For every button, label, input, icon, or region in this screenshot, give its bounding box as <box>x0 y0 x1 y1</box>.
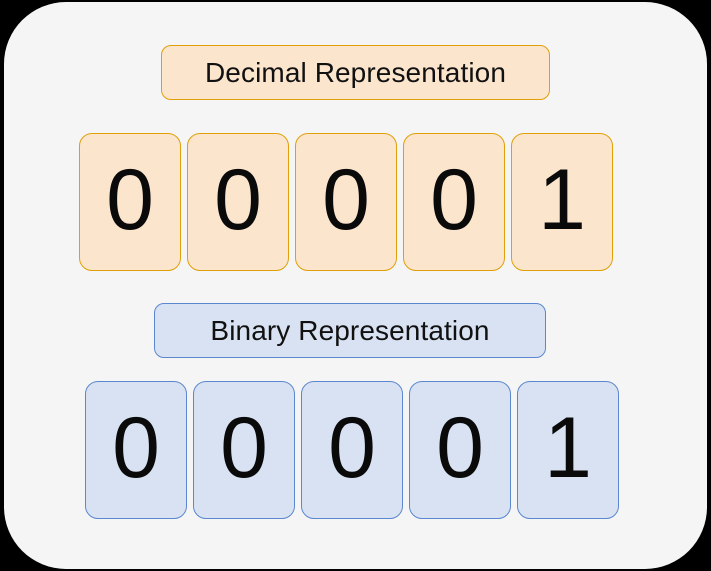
decimal-digit-row: 0 0 0 0 1 <box>79 133 613 271</box>
decimal-digit-value: 1 <box>538 157 586 243</box>
binary-digit-card[interactable]: 0 <box>409 381 511 519</box>
binary-digit-card[interactable]: 0 <box>193 381 295 519</box>
decimal-digit-card[interactable]: 0 <box>187 133 289 271</box>
decimal-digit-value: 0 <box>214 157 262 243</box>
decimal-digit-card[interactable]: 0 <box>79 133 181 271</box>
binary-digit-value: 1 <box>544 405 592 491</box>
binary-digit-card[interactable]: 0 <box>85 381 187 519</box>
screenshot-canvas: Decimal Representation 0 0 0 0 1 Binary … <box>0 0 711 571</box>
decimal-digit-value: 0 <box>322 157 370 243</box>
decimal-digit-card[interactable]: 0 <box>403 133 505 271</box>
decimal-digit-value: 0 <box>430 157 478 243</box>
decimal-digit-value: 0 <box>106 157 154 243</box>
main-panel: Decimal Representation 0 0 0 0 1 Binary … <box>4 2 707 569</box>
decimal-digit-card[interactable]: 0 <box>295 133 397 271</box>
decimal-digit-card[interactable]: 1 <box>511 133 613 271</box>
binary-digit-value: 0 <box>436 405 484 491</box>
binary-digit-card[interactable]: 1 <box>517 381 619 519</box>
binary-digit-row: 0 0 0 0 1 <box>85 381 619 519</box>
binary-digit-card[interactable]: 0 <box>301 381 403 519</box>
binary-digit-value: 0 <box>220 405 268 491</box>
binary-digit-value: 0 <box>328 405 376 491</box>
binary-digit-value: 0 <box>112 405 160 491</box>
binary-representation-label: Binary Representation <box>154 303 546 358</box>
decimal-representation-label: Decimal Representation <box>161 45 550 100</box>
